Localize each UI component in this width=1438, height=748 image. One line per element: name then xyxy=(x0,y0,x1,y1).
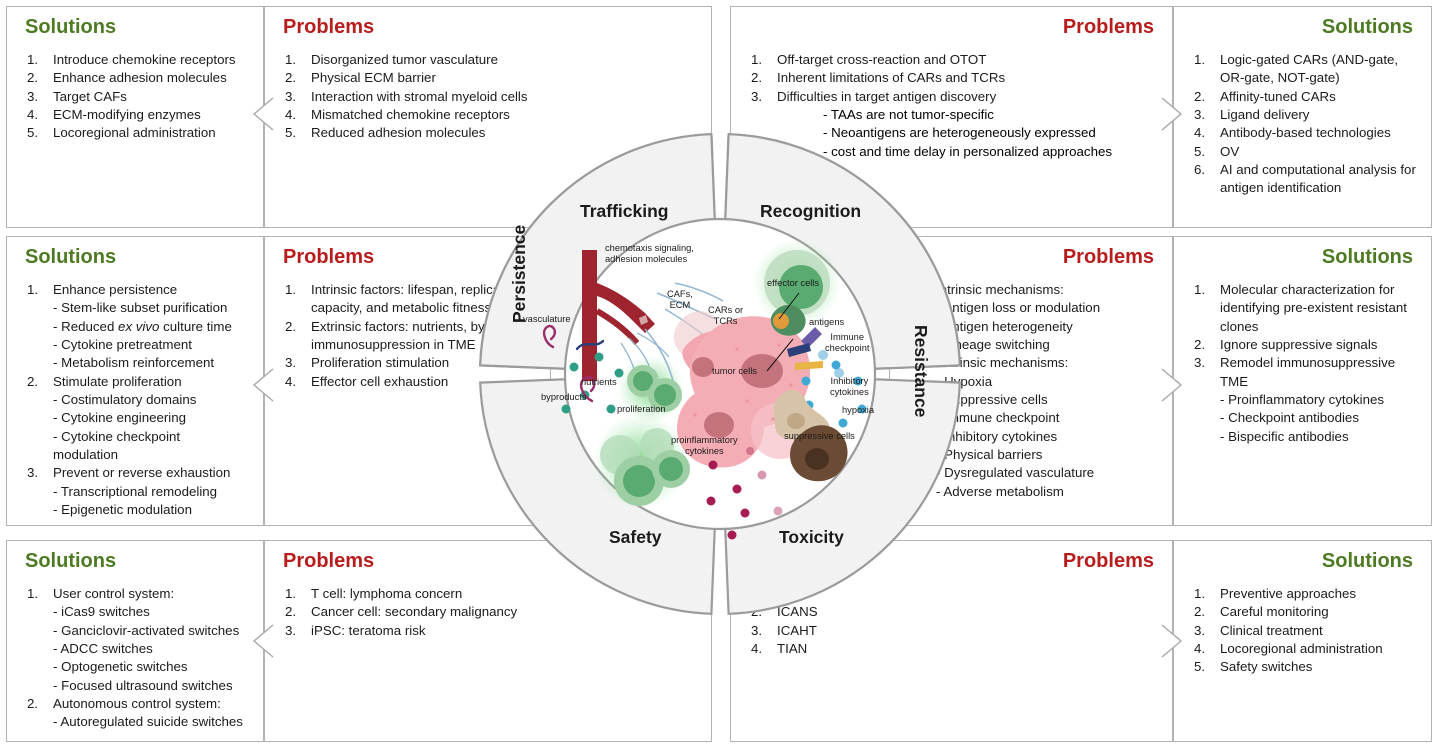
list-item-text: ICAHT xyxy=(777,622,1162,640)
list-item: 1.Intrinsic mechanisms: xyxy=(906,281,1162,299)
list-item-text: Intrinsic factors: lifespan, replicative… xyxy=(311,281,540,318)
list-item: 4.Locoregional administration xyxy=(1190,640,1421,658)
list-item-number: 3. xyxy=(747,622,777,640)
list-item: 3.Prevent or reverse exhaustion xyxy=(23,464,253,482)
sub-list-item: - iCas9 switches xyxy=(53,603,253,621)
list-item: 5.Safety switches xyxy=(1190,658,1421,676)
list-item: 5.Locoregional administration xyxy=(23,124,253,142)
illustration-label-immune-checkpoint: Immune checkpoint xyxy=(825,332,869,355)
sub-list-item: - TAAs are not tumor-specific xyxy=(823,106,1172,124)
list-item-number: 1. xyxy=(1190,585,1220,603)
list-item: 1.T cell: lymphoma concern xyxy=(281,585,701,603)
hub-inner-circle xyxy=(565,219,875,529)
list-item-text: Introduce chemokine receptors xyxy=(53,51,253,69)
tumor-nucleus-3 xyxy=(692,357,714,377)
suppressive-cells-graphic xyxy=(774,390,848,481)
list-item-text: AI and computational analysis for antige… xyxy=(1220,161,1421,198)
sub-list: - iCas9 switches- Ganciclovir-activated … xyxy=(23,603,253,695)
illustration-label-cars-tcrs: CARs or TCRs xyxy=(708,305,743,328)
list-item: 2.Extrinsic mechanisms: xyxy=(906,354,1162,372)
list-persistence-problems: 1.Intrinsic factors: lifespan, replicati… xyxy=(265,281,550,391)
list-item: 1.Preventive approaches xyxy=(1190,585,1421,603)
list-item-number: 1. xyxy=(1190,51,1220,69)
list-item: 3.Proliferation stimulation xyxy=(281,354,540,372)
tumor-nucleus-1 xyxy=(741,354,783,388)
arrow-persistence xyxy=(252,368,274,402)
list-item-text: Safety switches xyxy=(1220,658,1421,676)
list-item-text: Molecular characterization for identifyi… xyxy=(1220,281,1421,336)
panel-safety-problems: Problems 1.T cell: lymphoma concern2.Can… xyxy=(264,540,712,742)
list-item: 3.Clinical treatment xyxy=(1190,622,1421,640)
illustration-label-suppressive-cells: suppressive cells xyxy=(784,431,855,442)
list-item-text: Enhance adhesion molecules xyxy=(53,69,253,87)
byproduct-squiggles xyxy=(544,326,603,401)
list-item: 1.Enhance persistence xyxy=(23,281,253,299)
list-item: 2.Inherent limitations of CARs and TCRs xyxy=(747,69,1162,87)
sub-list-item: - Bispecific antibodies xyxy=(1220,428,1421,446)
sub-list: - Antigen loss or modulation- Antigen he… xyxy=(906,299,1162,354)
list-item-text: Clinical treatment xyxy=(1220,622,1421,640)
list-item: 3.ICAHT xyxy=(747,622,1162,640)
ecm-fibers xyxy=(645,283,723,389)
sub-list-item: - Immune checkpoint xyxy=(936,409,1162,427)
list-item: 1.Molecular characterization for identif… xyxy=(1190,281,1421,336)
heading-solutions: Solutions xyxy=(7,247,263,267)
list-item-text: Cancer cell: secondary malignancy xyxy=(311,603,701,621)
list-item: 3.Remodel immunosuppressive TME xyxy=(1190,354,1421,391)
sub-list: - Costimulatory domains- Cytokine engine… xyxy=(23,391,253,464)
list-item-text: Logic-gated CARs (AND-gate, OR-gate, NOT… xyxy=(1220,51,1421,88)
list-item-text: ECM-modifying enzymes xyxy=(53,106,253,124)
sub-list: - Proinflammatory cytokines- Checkpoint … xyxy=(1190,391,1421,446)
list-item-text: Proliferation stimulation xyxy=(311,354,540,372)
panel-persistence-solutions: Solutions 1.Enhance persistence- Stem-li… xyxy=(6,236,264,526)
list-item-text: Inherent limitations of CARs and TCRs xyxy=(777,69,1162,87)
list-item: 1.Off-target cross-reaction and OTOT xyxy=(747,51,1162,69)
sub-list-item: - Epigenetic modulation xyxy=(53,501,253,519)
list-item-number: 3. xyxy=(281,622,311,640)
list-item-number: 2. xyxy=(281,318,311,336)
sub-list: - Stem-like subset purification- Reduced… xyxy=(23,299,253,372)
sub-list-item: - Optogenetic switches xyxy=(53,658,253,676)
list-item-text: Careful monitoring xyxy=(1220,603,1421,621)
list-toxicity-problems: 1.CRS2.ICANS3.ICAHT4.TIAN xyxy=(731,585,1172,658)
heading-solutions: Solutions xyxy=(7,551,263,571)
sub-list-item: - Ganciclovir-activated switches xyxy=(53,622,253,640)
heading-solutions: Solutions xyxy=(7,17,263,37)
list-item-number: 5. xyxy=(23,124,53,142)
heading-problems: Problems xyxy=(265,17,711,37)
sub-list-item: - Suppressive cells xyxy=(936,391,1162,409)
heading-problems: Problems xyxy=(731,17,1172,37)
caf-cell-1 xyxy=(674,311,724,360)
list-item-text: Extrinsic mechanisms: xyxy=(936,354,1162,372)
list-item-text: Difficulties in target antigen discovery xyxy=(777,88,1162,106)
list-item-text: Intrinsic mechanisms: xyxy=(936,281,1162,299)
tumor-nucleus-2 xyxy=(704,412,734,438)
list-item-number: 2. xyxy=(747,69,777,87)
list-item: 1.Logic-gated CARs (AND-gate, OR-gate, N… xyxy=(1190,51,1421,88)
sub-list: - Transcriptional remodeling- Epigenetic… xyxy=(23,483,253,520)
car-antigen-synapse xyxy=(767,293,823,371)
panel-persistence-problems: Problems 1.Intrinsic factors: lifespan, … xyxy=(264,236,551,526)
sub-list-item: - Costimulatory domains xyxy=(53,391,253,409)
list-item-number: 2. xyxy=(906,354,936,372)
list-item: 2.Extrinsic factors: nutrients, byproduc… xyxy=(281,318,540,355)
list-item: 3.Difficulties in target antigen discove… xyxy=(747,88,1162,106)
list-item-number: 2. xyxy=(281,69,311,87)
list-item-text: Effector cell exhaustion xyxy=(311,373,540,391)
list-item-number: 1. xyxy=(281,281,311,299)
list-item-number: 1. xyxy=(23,585,53,603)
panel-recognition-problems: Problems 1.Off-target cross-reaction and… xyxy=(730,6,1173,228)
list-item-text: Enhance persistence xyxy=(53,281,253,299)
list-item-text: Disorganized tumor vasculature xyxy=(311,51,701,69)
list-resistance-problems: 1.Intrinsic mechanisms:- Antigen loss or… xyxy=(890,281,1172,501)
list-item: 4.ECM-modifying enzymes xyxy=(23,106,253,124)
list-item-number: 2. xyxy=(23,373,53,391)
sub-list-item: - Metabolism reinforcement xyxy=(53,354,253,372)
illustration-label-cafs-ecm: CAFs, ECM xyxy=(667,289,693,312)
list-item-number: 5. xyxy=(1190,658,1220,676)
list-item-number: 4. xyxy=(1190,124,1220,142)
sub-list-item: - Reduced ex vivo culture time xyxy=(53,318,253,336)
arrow-toxicity xyxy=(1161,624,1183,658)
list-item-number: 2. xyxy=(747,603,777,621)
list-item-number: 1. xyxy=(281,51,311,69)
list-item: 1.Introduce chemokine receptors xyxy=(23,51,253,69)
hub-illustration xyxy=(544,239,866,540)
sub-list-item: - cost and time delay in personalized ap… xyxy=(823,143,1172,161)
sub-list-item: - Hypoxia xyxy=(936,373,1162,391)
list-item: 2.Careful monitoring xyxy=(1190,603,1421,621)
list-item-text: Antibody-based technologies xyxy=(1220,124,1421,142)
list-item: 1.User control system: xyxy=(23,585,253,603)
list-item-text: User control system: xyxy=(53,585,253,603)
list-item: 3.Ligand delivery xyxy=(1190,106,1421,124)
sub-list-item: - Autoregulated suicide switches xyxy=(53,713,253,731)
caf-cell-2 xyxy=(745,366,791,412)
heading-problems: Problems xyxy=(265,551,711,571)
heading-solutions: Solutions xyxy=(1174,247,1431,267)
list-item: 2.Ignore suppressive signals xyxy=(1190,336,1421,354)
sub-list-item: - Transcriptional remodeling xyxy=(53,483,253,501)
list-item: 2.Autonomous control system: xyxy=(23,695,253,713)
effector-cells-bottom xyxy=(600,428,690,506)
list-item-text: Physical ECM barrier xyxy=(311,69,701,87)
proliferation-cells xyxy=(627,365,682,412)
glow-proliferation xyxy=(617,355,685,423)
effector-cell-top xyxy=(764,250,830,316)
list-item-text: Autonomous control system: xyxy=(53,695,253,713)
arrow-recognition xyxy=(1161,97,1183,131)
list-item: 4.Mismatched chemokine receptors xyxy=(281,106,701,124)
list-item: 2.Stimulate proliferation xyxy=(23,373,253,391)
arrow-trafficking xyxy=(252,97,274,131)
list-item-number: 1. xyxy=(23,281,53,299)
list-item-text: OV xyxy=(1220,143,1421,161)
list-item-number: 5. xyxy=(1190,143,1220,161)
list-item-number: 1. xyxy=(906,281,936,299)
glow-effector-top xyxy=(753,239,841,327)
arrow-resistance xyxy=(1161,368,1183,402)
list-item-number: 2. xyxy=(23,69,53,87)
list-item-text: Mismatched chemokine receptors xyxy=(311,106,701,124)
panel-trafficking-problems: Problems 1.Disorganized tumor vasculatur… xyxy=(264,6,712,228)
sub-list-item: - Proinflammatory cytokines xyxy=(1220,391,1421,409)
sub-list: - Autoregulated suicide switches xyxy=(23,713,253,731)
sub-list-item: - Lineage switching xyxy=(936,336,1162,354)
figure-root: Solutions 1.Introduce chemokine receptor… xyxy=(0,0,1438,748)
panel-resistance-problems: Problems 1.Intrinsic mechanisms:- Antige… xyxy=(889,236,1173,526)
list-item-number: 3. xyxy=(1190,622,1220,640)
list-item: 4.TIAN xyxy=(747,640,1162,658)
list-item-number: 3. xyxy=(23,464,53,482)
list-item-number: 2. xyxy=(1190,88,1220,106)
heading-problems: Problems xyxy=(265,247,550,267)
illustration-label-antigens: antigens xyxy=(809,317,844,328)
list-item: 5.OV xyxy=(1190,143,1421,161)
list-item-text: Prevent or reverse exhaustion xyxy=(53,464,253,482)
list-item-number: 3. xyxy=(281,354,311,372)
list-trafficking-problems: 1.Disorganized tumor vasculature2.Physic… xyxy=(265,51,711,143)
heading-solutions: Solutions xyxy=(1174,551,1431,571)
list-toxicity-solutions: 1.Preventive approaches2.Careful monitor… xyxy=(1174,585,1431,677)
sub-list-item: - Cytokine pretreatment xyxy=(53,336,253,354)
list-item-text: Reduced adhesion molecules xyxy=(311,124,701,142)
panel-toxicity-solutions: Solutions 1.Preventive approaches2.Caref… xyxy=(1173,540,1432,742)
illustration-label-hypoxia: hypoxia xyxy=(842,405,874,416)
list-item-text: Target CAFs xyxy=(53,88,253,106)
list-item-number: 2. xyxy=(281,603,311,621)
sub-list: - Hypoxia- Suppressive cells- Immune che… xyxy=(906,373,1162,501)
list-item-number: 2. xyxy=(23,695,53,713)
list-item-number: 4. xyxy=(23,106,53,124)
panel-trafficking-solutions: Solutions 1.Introduce chemokine receptor… xyxy=(6,6,264,228)
sub-list-item: - Cytokine checkpoint modulation xyxy=(53,428,253,465)
illustration-label-effector-cells: effector cells xyxy=(767,278,819,289)
illustration-label-tumor-cells: tumor cells xyxy=(712,366,757,377)
list-item-text: Remodel immunosuppressive TME xyxy=(1220,354,1421,391)
glow-effector-bottom xyxy=(593,413,689,509)
vasculature-graphic xyxy=(582,250,669,381)
illustration-label-nutrients: nutrients xyxy=(581,377,617,388)
list-trafficking-solutions: 1.Introduce chemokine receptors2.Enhance… xyxy=(7,51,263,143)
list-item-number: 2. xyxy=(1190,336,1220,354)
list-item-number: 3. xyxy=(747,88,777,106)
panel-resistance-solutions: Solutions 1.Molecular characterization f… xyxy=(1173,236,1432,526)
list-item-number: 1. xyxy=(1190,281,1220,299)
list-item: 3.Target CAFs xyxy=(23,88,253,106)
illustration-label-proliferation: proliferation xyxy=(617,404,666,415)
list-item-text: Stimulate proliferation xyxy=(53,373,253,391)
list-item: 1.CRS xyxy=(747,585,1162,603)
list-recognition-solutions: 1.Logic-gated CARs (AND-gate, OR-gate, N… xyxy=(1174,51,1431,198)
panel-recognition-solutions: Solutions 1.Logic-gated CARs (AND-gate, … xyxy=(1173,6,1432,228)
list-item: 1.Disorganized tumor vasculature xyxy=(281,51,701,69)
list-item: 2.ICANS xyxy=(747,603,1162,621)
list-item-text: Preventive approaches xyxy=(1220,585,1421,603)
sub-list-item: - Physical barriers xyxy=(936,446,1162,464)
list-item-text: Locoregional administration xyxy=(1220,640,1421,658)
illustration-label-chemotaxis: chemotaxis signaling, adhesion molecules xyxy=(605,243,694,266)
sub-list-item: - Neoantigens are heterogeneously expres… xyxy=(823,124,1172,142)
sub-list-item: - Antigen loss or modulation xyxy=(936,299,1162,317)
list-item-text: ICANS xyxy=(777,603,1162,621)
heading-problems: Problems xyxy=(890,247,1172,267)
heading-solutions: Solutions xyxy=(1174,17,1431,37)
panel-safety-solutions: Solutions 1.User control system:- iCas9 … xyxy=(6,540,264,742)
checkpoint-dots xyxy=(818,350,844,378)
list-item: 4.Antibody-based technologies xyxy=(1190,124,1421,142)
list-recognition-problems: 1.Off-target cross-reaction and OTOT2.In… xyxy=(731,51,1172,106)
list-item-number: 4. xyxy=(281,373,311,391)
proinflammatory-dots xyxy=(707,447,783,540)
list-item-number: 1. xyxy=(23,51,53,69)
list-item: 3.Interaction with stromal myeloid cells xyxy=(281,88,701,106)
heading-problems: Problems xyxy=(731,551,1172,571)
list-item: 2.Cancer cell: secondary malignancy xyxy=(281,603,701,621)
sub-list-item: - Dysregulated vasculature xyxy=(936,464,1162,482)
list-resistance-solutions: 1.Molecular characterization for identif… xyxy=(1174,281,1431,446)
list-recognition-problems-sub: - TAAs are not tumor-specific- Neoantige… xyxy=(731,106,1172,161)
list-item-text: TIAN xyxy=(777,640,1162,658)
list-safety-solutions: 1.User control system:- iCas9 switches- … xyxy=(7,585,263,732)
list-item-text: Interaction with stromal myeloid cells xyxy=(311,88,701,106)
list-item-number: 1. xyxy=(747,51,777,69)
list-item-number: 5. xyxy=(281,124,311,142)
list-item-text: Extrinsic factors: nutrients, byproducts… xyxy=(311,318,540,355)
list-item: 6.AI and computational analysis for anti… xyxy=(1190,161,1421,198)
arrow-safety xyxy=(252,624,274,658)
tumor-cells-graphic xyxy=(677,316,810,467)
list-safety-problems: 1.T cell: lymphoma concern2.Cancer cell:… xyxy=(265,585,711,640)
list-item-text: CRS xyxy=(777,585,1162,603)
sub-list-item: - Cytokine engineering xyxy=(53,409,253,427)
list-item: 3.iPSC: teratoma risk xyxy=(281,622,701,640)
nutrient-dots xyxy=(562,353,624,414)
list-item-text: Off-target cross-reaction and OTOT xyxy=(777,51,1162,69)
list-item-number: 2. xyxy=(1190,603,1220,621)
sub-list-item: - Inhibitory cytokines xyxy=(936,428,1162,446)
list-item: 1.Intrinsic factors: lifespan, replicati… xyxy=(281,281,540,318)
list-item-text: Ignore suppressive signals xyxy=(1220,336,1421,354)
sub-list-item: - Checkpoint antibodies xyxy=(1220,409,1421,427)
sub-list-item: - Adverse metabolism xyxy=(936,483,1162,501)
list-item: 2.Physical ECM barrier xyxy=(281,69,701,87)
list-item-number: 3. xyxy=(281,88,311,106)
list-item-number: 3. xyxy=(1190,354,1220,372)
inhibitory-cytokine-dots xyxy=(802,361,867,428)
list-item-text: Locoregional administration xyxy=(53,124,253,142)
list-item: 4.Effector cell exhaustion xyxy=(281,373,540,391)
sub-list-item: - Focused ultrasound switches xyxy=(53,677,253,695)
sub-list-item: - Antigen heterogeneity xyxy=(936,318,1162,336)
list-item: 2.Enhance adhesion molecules xyxy=(23,69,253,87)
illustration-label-inhibitory-cytokines: Inhibitory cytokines xyxy=(830,376,869,399)
list-item-number: 1. xyxy=(281,585,311,603)
list-item-number: 4. xyxy=(747,640,777,658)
list-item-number: 3. xyxy=(23,88,53,106)
sub-list-item: - Stem-like subset purification xyxy=(53,299,253,317)
list-item-text: Affinity-tuned CARs xyxy=(1220,88,1421,106)
list-item: 2.Affinity-tuned CARs xyxy=(1190,88,1421,106)
list-item-number: 6. xyxy=(1190,161,1220,179)
list-item-number: 4. xyxy=(1190,640,1220,658)
panel-toxicity-problems: Problems 1.CRS2.ICANS3.ICAHT4.TIAN xyxy=(730,540,1173,742)
illustration-label-proinflammatory-cytokines: proinflammatory cytokines xyxy=(671,435,738,458)
list-item-number: 1. xyxy=(747,585,777,603)
list-persistence-solutions: 1.Enhance persistence- Stem-like subset … xyxy=(7,281,263,519)
list-item-text: iPSC: teratoma risk xyxy=(311,622,701,640)
list-item-number: 3. xyxy=(1190,106,1220,124)
list-item-number: 4. xyxy=(281,106,311,124)
list-item-text: Ligand delivery xyxy=(1220,106,1421,124)
list-item: 5.Reduced adhesion molecules xyxy=(281,124,701,142)
sub-list-item: - ADCC switches xyxy=(53,640,253,658)
list-item-text: T cell: lymphoma concern xyxy=(311,585,701,603)
